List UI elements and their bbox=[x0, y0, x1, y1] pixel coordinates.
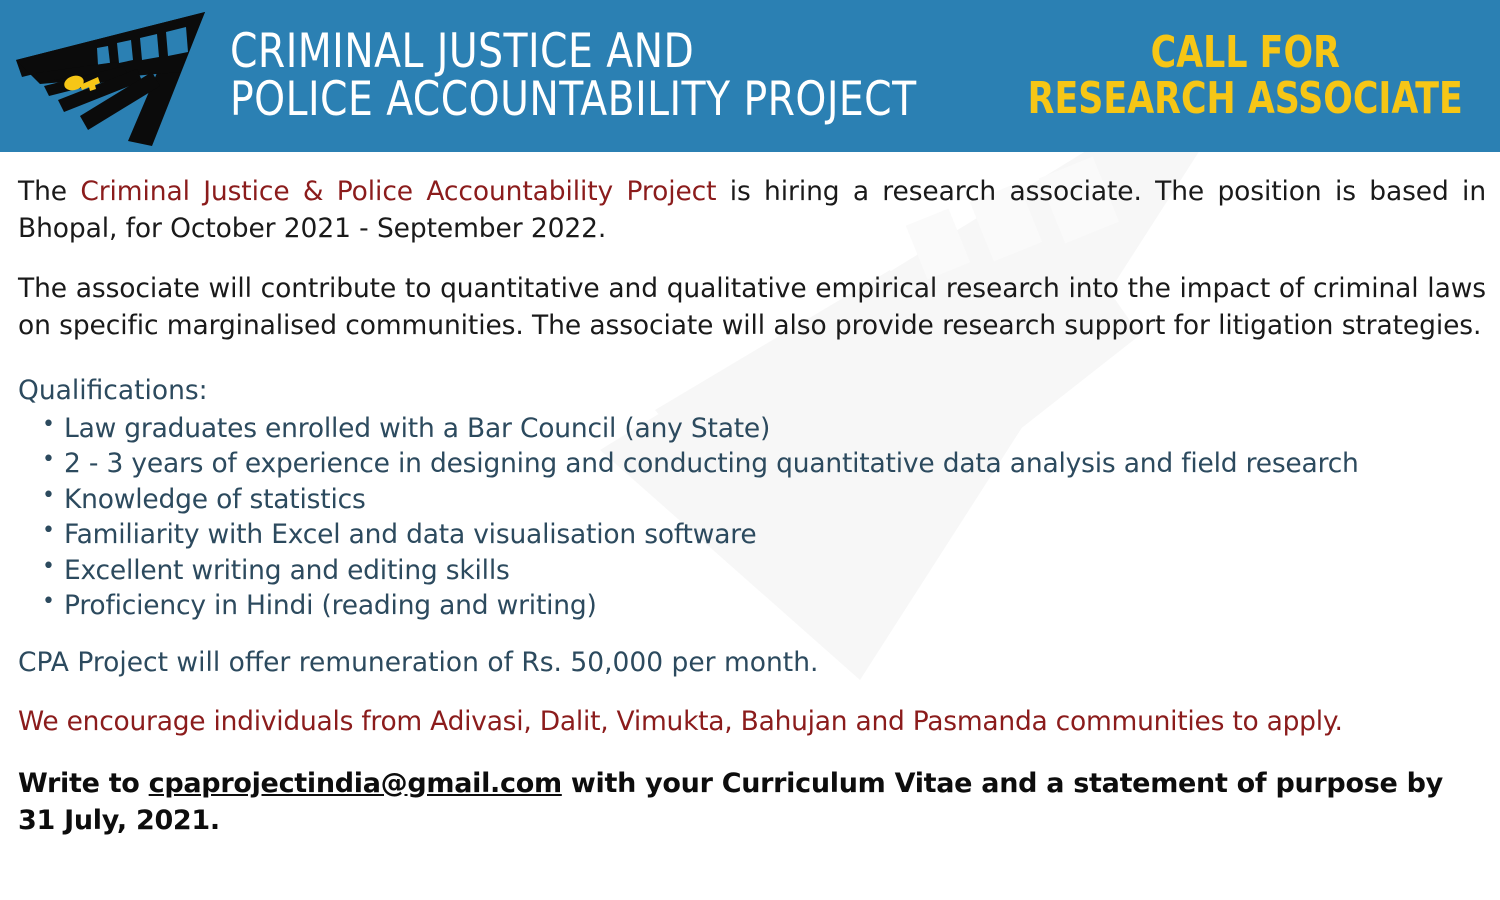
qualifications-heading: Qualifications: bbox=[18, 374, 1486, 408]
call-title-line-1: CALL FOR bbox=[1028, 30, 1463, 76]
header-band: CRIMINAL JUSTICE AND POLICE ACCOUNTABILI… bbox=[0, 0, 1500, 152]
encouragement-text: We encourage individuals from Adivasi, D… bbox=[18, 705, 1486, 739]
organisation-logo bbox=[0, 0, 226, 152]
intro-highlight: Criminal Justice & Police Accountability… bbox=[80, 176, 716, 207]
logo-wedge-icon bbox=[16, 12, 205, 146]
intro-paragraph: The Criminal Justice & Police Accountabi… bbox=[18, 174, 1486, 247]
call-title-line-2: RESEARCH ASSOCIATE bbox=[1028, 76, 1463, 122]
list-item: Familiarity with Excel and data visualis… bbox=[42, 517, 1486, 553]
application-email-link[interactable]: cpaprojectindia@gmail.com bbox=[149, 768, 562, 799]
apply-instructions: Write to cpaprojectindia@gmail.com with … bbox=[18, 765, 1486, 840]
list-item: 2 - 3 years of experience in designing a… bbox=[42, 446, 1486, 482]
qualifications-list: Law graduates enrolled with a Bar Counci… bbox=[18, 411, 1486, 624]
qualifications-block: Qualifications: Law graduates enrolled w… bbox=[18, 374, 1486, 623]
description-paragraph: The associate will contribute to quantit… bbox=[18, 271, 1486, 344]
remuneration-text: CPA Project will offer remuneration of R… bbox=[18, 646, 1486, 680]
body-content: The Criminal Justice & Police Accountabi… bbox=[0, 174, 1500, 839]
poster-canvas: CRIMINAL JUSTICE AND POLICE ACCOUNTABILI… bbox=[0, 0, 1500, 900]
list-item: Proficiency in Hindi (reading and writin… bbox=[42, 588, 1486, 624]
organisation-title: CRIMINAL JUSTICE AND POLICE ACCOUNTABILI… bbox=[230, 28, 968, 124]
list-item: Knowledge of statistics bbox=[42, 482, 1486, 518]
apply-before: Write to bbox=[18, 768, 149, 799]
org-title-line-1: CRIMINAL JUSTICE AND bbox=[230, 28, 917, 76]
list-item: Excellent writing and editing skills bbox=[42, 553, 1486, 589]
list-item: Law graduates enrolled with a Bar Counci… bbox=[42, 411, 1486, 447]
intro-before: The bbox=[18, 176, 80, 207]
call-for-title: CALL FOR RESEARCH ASSOCIATE bbox=[968, 30, 1500, 122]
org-title-line-2: POLICE ACCOUNTABILITY PROJECT bbox=[230, 76, 917, 124]
